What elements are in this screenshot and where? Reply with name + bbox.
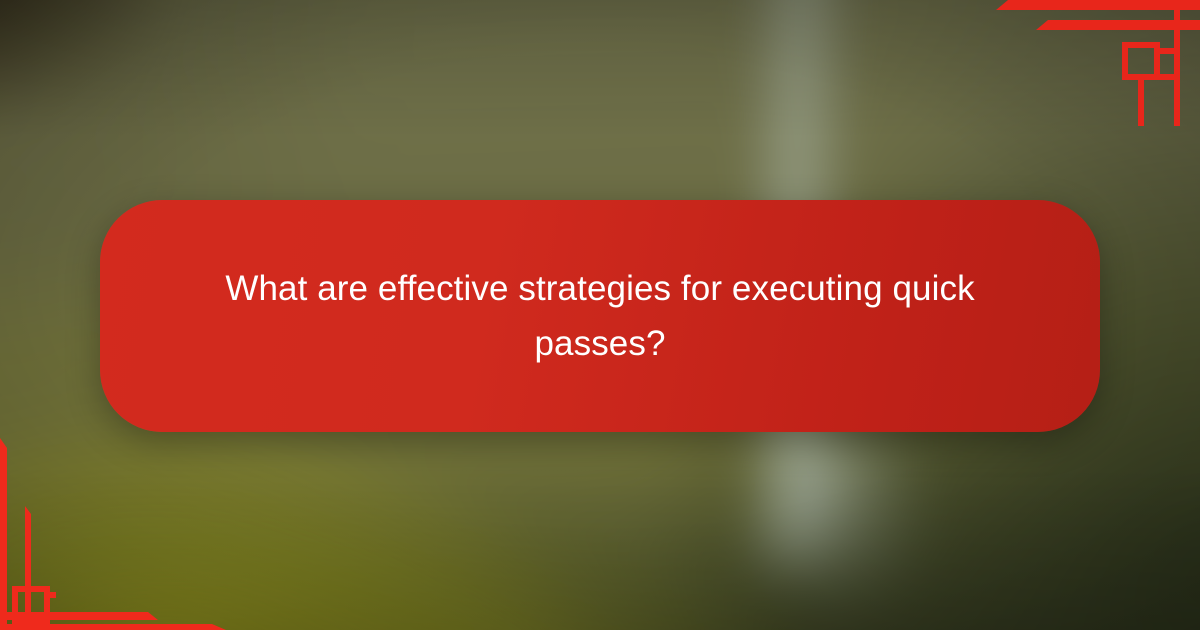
question-text: What are effective strategies for execut… xyxy=(220,261,980,372)
question-card: What are effective strategies for execut… xyxy=(100,200,1100,432)
question-card-graphic: What are effective strategies for execut… xyxy=(0,0,1200,630)
